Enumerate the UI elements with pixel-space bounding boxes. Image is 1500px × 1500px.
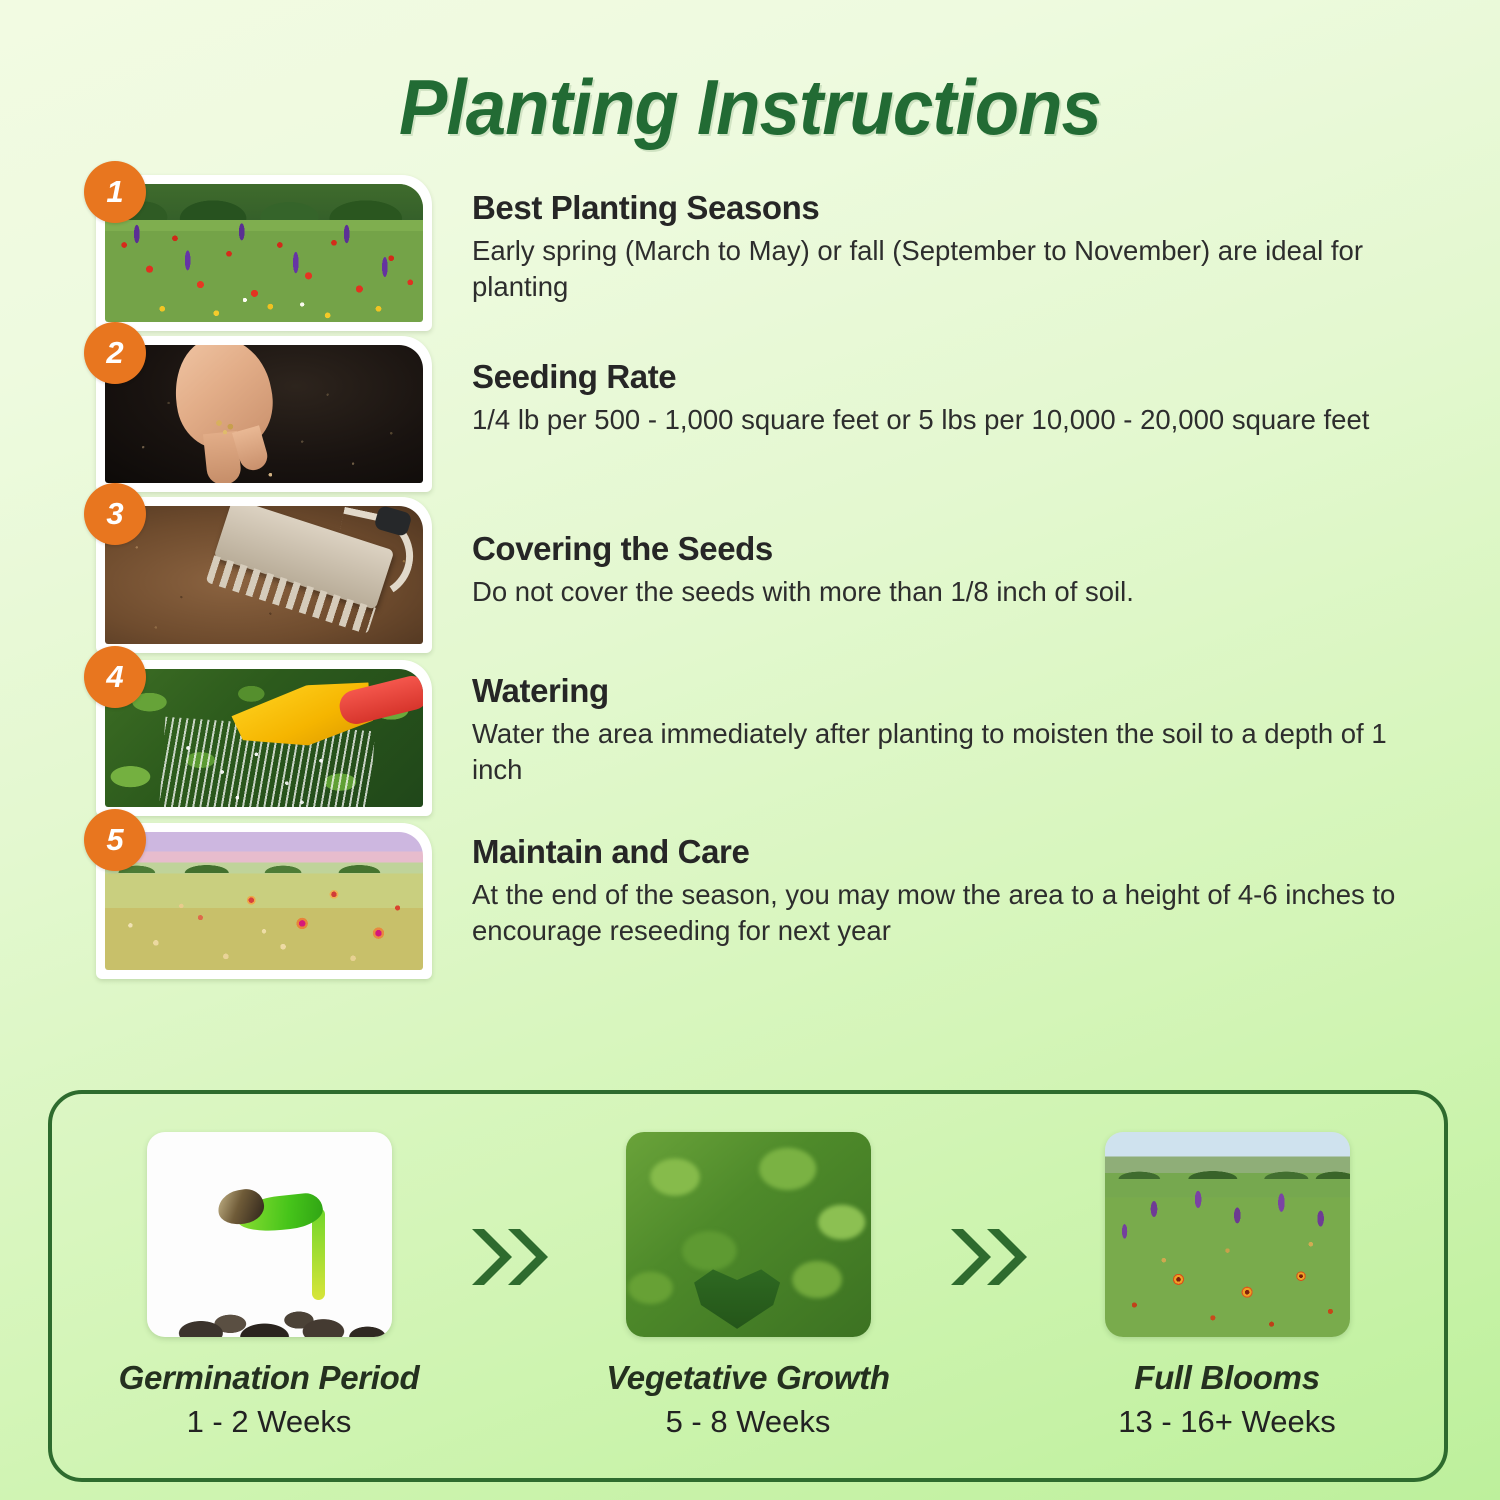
step-item: 5 Maintain and Care At the end of the se… [96,823,1500,979]
step-body: At the end of the season, you may mow th… [472,877,1422,950]
timeline-stage-label: Full Blooms [1062,1359,1392,1397]
step-text: Watering Water the area immediately afte… [432,660,1422,789]
timeline-stage-label: Vegetative Growth [583,1359,913,1397]
infographic-page: Planting Instructions 1 Best Planting Se… [0,0,1500,1500]
watering-can-photo [105,669,423,807]
wildflower-meadow-photo [105,184,423,322]
double-chevron-right-icon [466,1221,552,1293]
step-body: 1/4 lb per 500 - 1,000 square feet or 5 … [472,402,1369,438]
timeline-stage: Germination Period 1 - 2 Weeks [104,1132,434,1440]
steps-list: 1 Best Planting Seasons Early spring (Ma… [0,175,1500,979]
step-item: 3 Covering the Seeds Do not cover the se… [96,497,1500,653]
step-media: 5 [96,823,432,979]
step-number-badge: 2 [84,322,146,384]
watering-can-pipe-shape [337,672,423,727]
blooming-wildflower-field-photo [1105,1132,1350,1337]
wildflower-field-sunset-photo [105,832,423,970]
step-number-badge: 4 [84,646,146,708]
growth-timeline-panel: Germination Period 1 - 2 Weeks Vegetativ… [48,1090,1448,1482]
rake-on-soil-photo [105,506,423,644]
photo-frame [96,336,432,492]
photo-frame [96,823,432,979]
hand-sowing-seeds-photo [105,345,423,483]
step-heading: Maintain and Care [472,833,1422,871]
double-chevron-right-icon [945,1221,1031,1293]
step-body: Water the area immediately after plantin… [472,716,1422,789]
seeds-shape [213,417,243,437]
step-number-badge: 5 [84,809,146,871]
step-item: 4 Watering Water the area immediately af… [96,660,1500,816]
step-number-badge: 1 [84,161,146,223]
timeline-stage: Full Blooms 13 - 16+ Weeks [1062,1132,1392,1440]
timeline-stage-value: 1 - 2 Weeks [104,1404,434,1440]
photo-frame [96,660,432,816]
page-title: Planting Instructions [53,0,1448,153]
photo-frame [96,497,432,653]
step-media: 3 [96,497,432,653]
water-droplets-shape [169,732,359,807]
step-body: Early spring (March to May) or fall (Sep… [472,233,1422,306]
step-text: Best Planting Seasons Early spring (Marc… [432,175,1422,306]
step-number-badge: 3 [84,483,146,545]
foliage-artwork [626,1132,871,1337]
meadow-artwork [105,184,423,322]
timeline-stage-label: Germination Period [104,1359,434,1397]
step-heading: Seeding Rate [472,358,1369,396]
soil-artwork [105,506,423,644]
timeline-stage-value: 5 - 8 Weeks [583,1404,913,1440]
bloom-field-artwork [1105,1132,1350,1337]
photo-frame [96,175,432,331]
timeline-stage: Vegetative Growth 5 - 8 Weeks [583,1132,913,1440]
step-text: Covering the Seeds Do not cover the seed… [432,497,1134,610]
step-heading: Covering the Seeds [472,530,1134,568]
green-foliage-photo [626,1132,871,1337]
seed-sprout-photo [147,1132,392,1337]
step-text: Maintain and Care At the end of the seas… [432,823,1422,950]
meadow-artwork [105,832,423,970]
step-heading: Best Planting Seasons [472,189,1422,227]
foliage-artwork [105,669,423,807]
soil-pile-shape [147,1243,392,1337]
soil-artwork [105,345,423,483]
step-media: 1 [96,175,432,331]
step-text: Seeding Rate 1/4 lb per 500 - 1,000 squa… [432,336,1369,438]
step-heading: Watering [472,672,1422,710]
stem-shape [312,1208,325,1300]
step-media: 4 [96,660,432,816]
hand-shape [164,345,281,457]
step-item: 2 Seeding Rate 1/4 lb per 500 - 1,000 sq… [96,336,1500,492]
step-body: Do not cover the seeds with more than 1/… [472,574,1134,610]
timeline-stage-value: 13 - 16+ Weeks [1062,1404,1392,1440]
step-item: 1 Best Planting Seasons Early spring (Ma… [96,175,1500,331]
sprout-artwork [147,1132,392,1337]
step-media: 2 [96,336,432,492]
